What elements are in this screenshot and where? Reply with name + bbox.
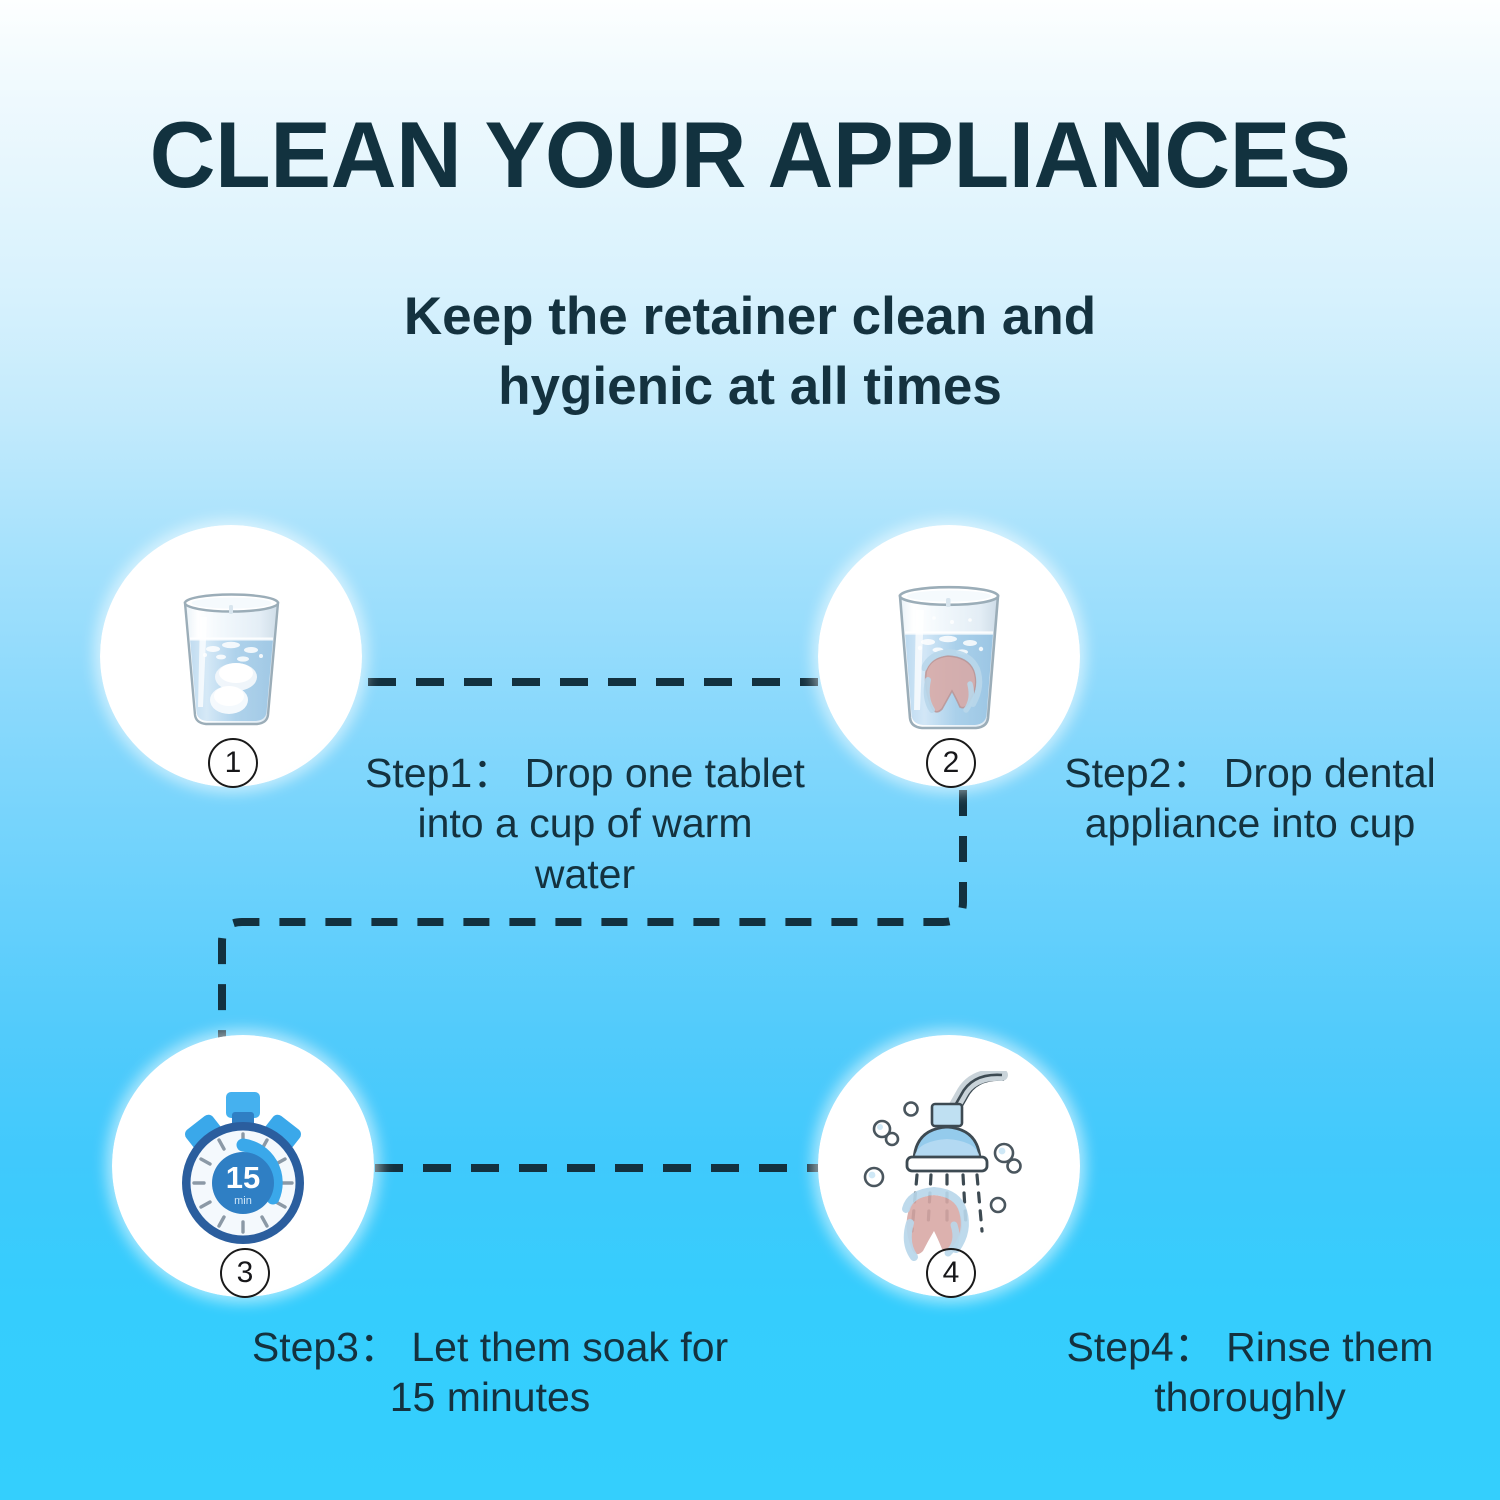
step-badge-1-number: 1	[225, 748, 242, 778]
step-caption-4: Step4： Rinse them thoroughly	[1030, 1322, 1470, 1423]
timer-value: 15	[226, 1160, 260, 1195]
step-badge-3: 3	[220, 1248, 270, 1298]
step-caption-2: Step2： Drop dental appliance into cup	[1030, 748, 1470, 849]
step-caption-2-line-2: appliance into cup	[1030, 798, 1470, 848]
step-caption-1: Step1： Drop one tablet into a cup of war…	[320, 748, 850, 899]
step-caption-4-line-2: thoroughly	[1030, 1372, 1470, 1422]
step-caption-4-line-1: Step4： Rinse them	[1030, 1322, 1470, 1372]
step-caption-1-line-2: into a cup of warm	[320, 798, 850, 848]
step-badge-2-number: 2	[943, 748, 960, 778]
step-badge-3-number: 3	[237, 1258, 254, 1288]
step-caption-3-line-1: Step3： Let them soak for	[210, 1322, 770, 1372]
step-badge-2: 2	[926, 738, 976, 788]
step-badge-1: 1	[208, 738, 258, 788]
timer-unit: min	[234, 1195, 252, 1207]
step-caption-1-line-3: water	[320, 849, 850, 899]
step-circle-4[interactable]: 4	[818, 1035, 1080, 1297]
step-caption-3-line-2: 15 minutes	[210, 1372, 770, 1422]
step-caption-3: Step3： Let them soak for 15 minutes	[210, 1322, 770, 1423]
page-subtitle: Keep the retainer clean and hygienic at …	[0, 282, 1500, 422]
step-badge-4-number: 4	[943, 1258, 960, 1288]
step-caption-1-line-1: Step1： Drop one tablet	[320, 748, 850, 798]
subtitle-line-2: hygienic at all times	[0, 352, 1500, 422]
infographic-poster: CLEAN YOUR APPLIANCES Keep the retainer …	[0, 0, 1500, 1500]
step-badge-4: 4	[926, 1248, 976, 1298]
step-caption-2-line-1: Step2： Drop dental	[1030, 748, 1470, 798]
step-circle-3[interactable]: 15 min 3	[112, 1035, 374, 1297]
page-title: CLEAN YOUR APPLIANCES	[23, 108, 1478, 202]
subtitle-line-1: Keep the retainer clean and	[0, 282, 1500, 352]
